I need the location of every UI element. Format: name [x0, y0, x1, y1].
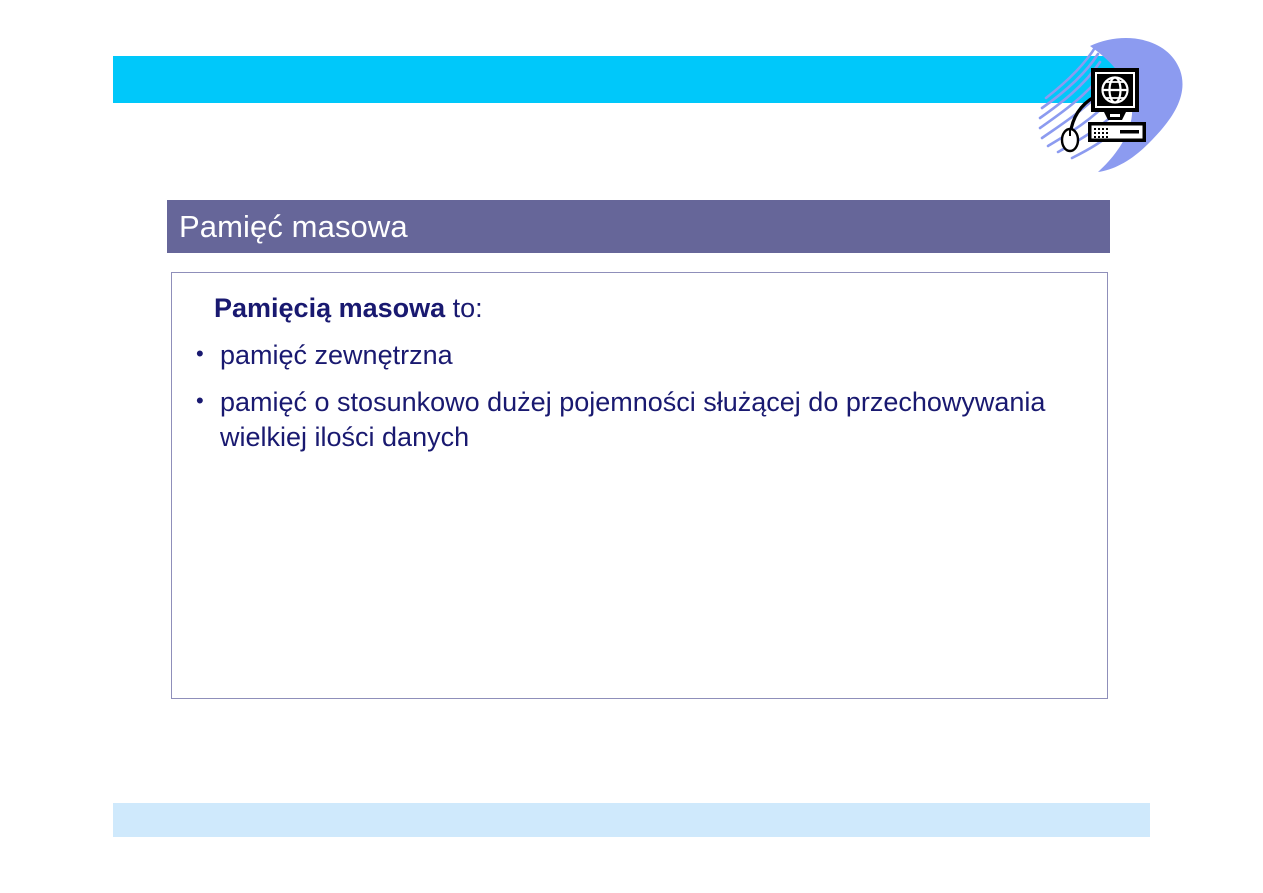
bullet-marker-icon: •	[196, 385, 204, 417]
list-item-text: pamięć o stosunkowo dużej pojemności słu…	[220, 385, 1089, 454]
lead-paragraph: Pamięcią masowa to:	[214, 293, 1089, 325]
mouse-icon	[1062, 129, 1078, 151]
slide-title-bar: Pamięć masowa	[167, 200, 1110, 253]
bottom-band	[113, 803, 1150, 837]
base-slot	[1120, 130, 1139, 134]
page-title: Pamięć masowa	[167, 211, 408, 242]
list-item: • pamięć o stosunkowo dużej pojemności s…	[190, 385, 1089, 454]
bullet-marker-icon: •	[196, 338, 204, 370]
slide-content-box: Pamięcią masowa to: • pamięć zewnętrzna …	[171, 272, 1108, 699]
keyboard-base-icon	[1088, 122, 1146, 142]
lead-rest-text: to:	[445, 293, 483, 323]
slide-canvas: Pamięć masowa Pamięcią masowa to: • pami…	[0, 0, 1263, 893]
bullet-list: • pamięć zewnętrzna • pamięć o stosunkow…	[190, 338, 1089, 455]
keyboard-keys	[1094, 128, 1108, 138]
list-item: • pamięć zewnętrzna	[190, 338, 1089, 373]
lead-strong-text: Pamięcią masowa	[214, 293, 445, 323]
list-item-text: pamięć zewnętrzna	[220, 338, 1089, 373]
top-banner	[113, 56, 1129, 103]
